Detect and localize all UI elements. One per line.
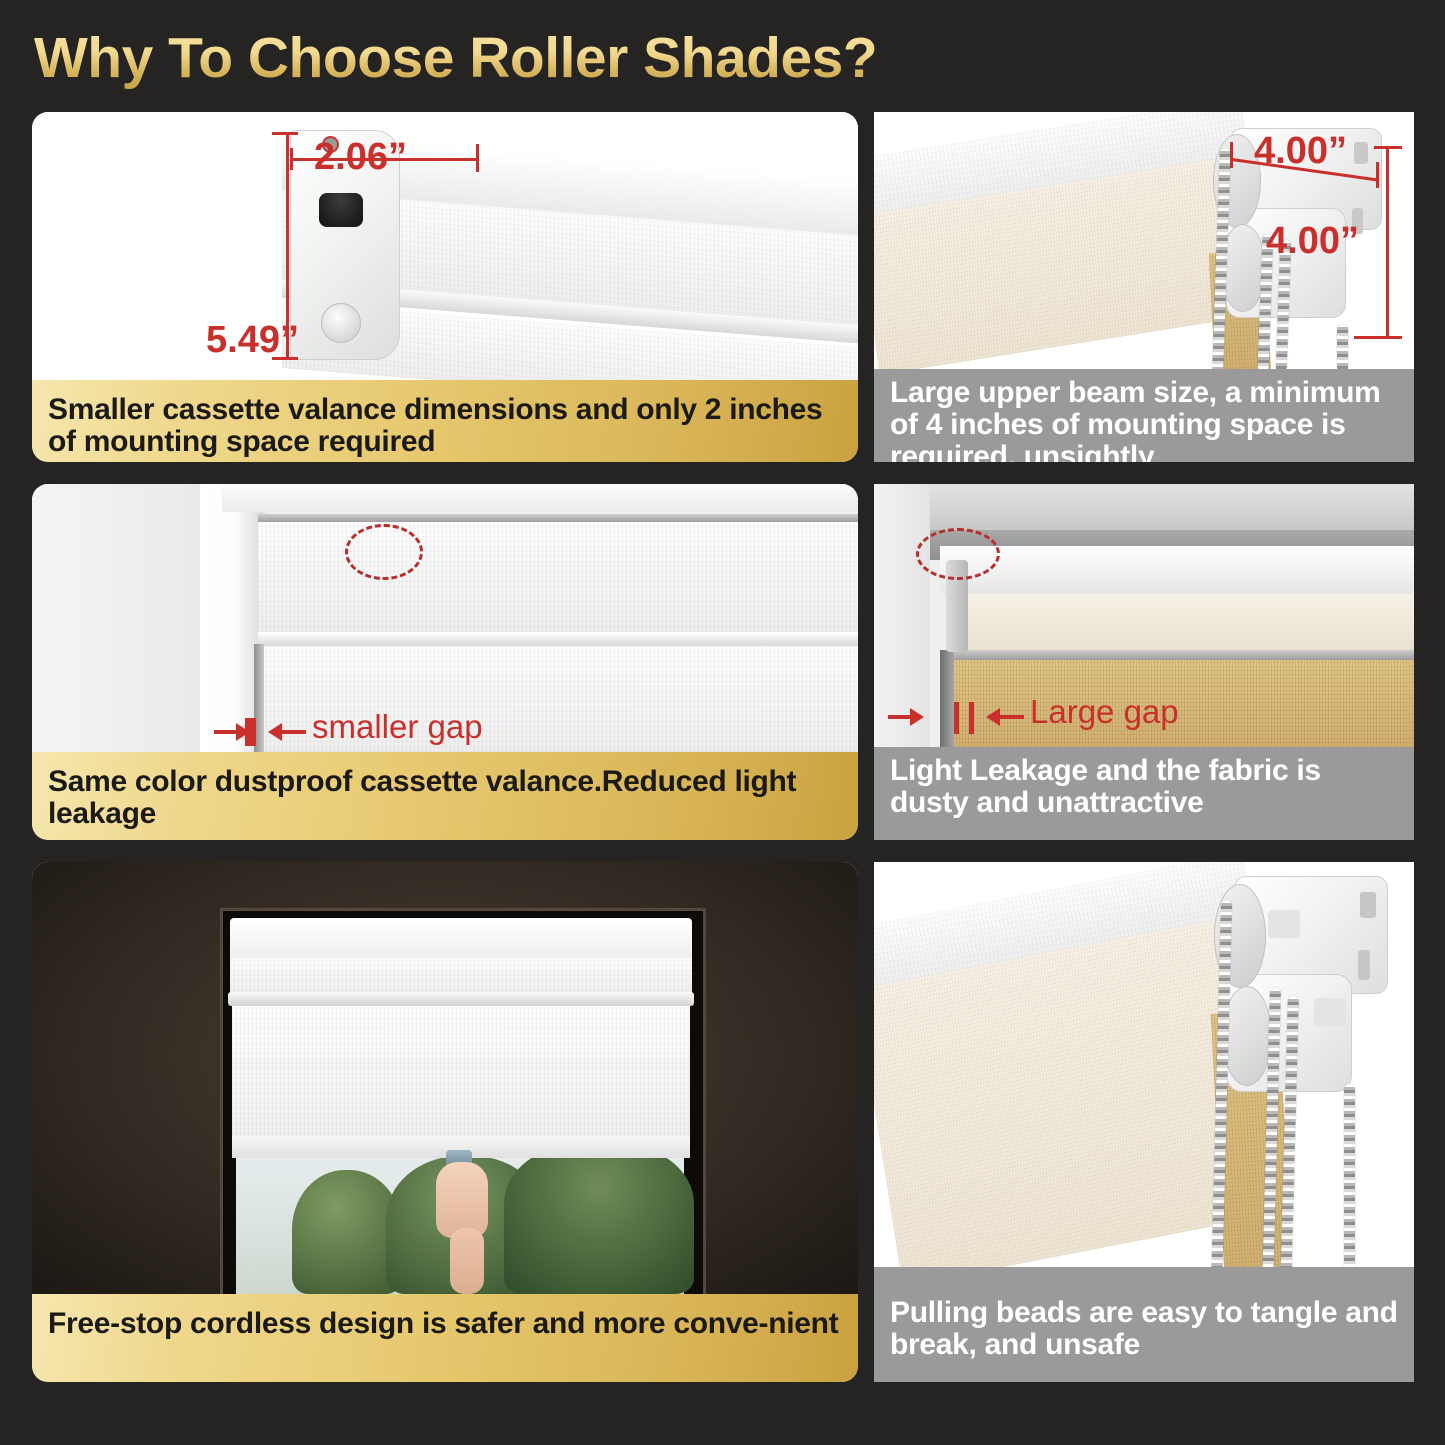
caption-cassette-dimensions: Smaller cassette valance dimensions and … <box>32 380 858 462</box>
caption-dustproof-cassette: Same color dustproof cassette valance.Re… <box>32 752 858 840</box>
shade-fabric <box>232 1006 690 1154</box>
large-gap-arrow-left-shaft <box>888 715 912 719</box>
large-upper-beam-photo: 4.00” 4.00” <box>874 112 1414 369</box>
tan-shade-fabric <box>950 660 1414 747</box>
large-gap-marker-b <box>969 702 974 734</box>
cordless-design-photo <box>32 862 858 1294</box>
wall-shadow-band <box>930 484 1414 530</box>
cassette-valance-face <box>230 958 692 996</box>
large-gap-arrow-left-head <box>910 708 924 726</box>
beam-height-tick-top <box>1374 146 1402 149</box>
beam-height-tick-bottom <box>1354 336 1402 339</box>
bracket-emblem-bottom <box>1314 998 1346 1026</box>
caption-light-leakage: Light Leakage and the fabric is dusty an… <box>874 747 1414 840</box>
bracket-roller-end-lower <box>1222 986 1272 1086</box>
smaller-gap-arrow-left-shaft <box>214 730 238 734</box>
panel-light-leakage: Large gap Light Leakage and the fabric i… <box>874 484 1414 840</box>
large-gap-arrow-right-head <box>986 708 1000 726</box>
floor-band <box>874 1267 1414 1289</box>
cassette-valance-face <box>258 522 858 632</box>
beam-height-label: 4.00” <box>1266 220 1359 263</box>
gap-highlight-circle <box>916 528 1000 580</box>
light-leakage-photo: Large gap <box>874 484 1414 747</box>
window-frame-top <box>222 484 858 512</box>
page-title: Why To Choose Roller Shades? <box>34 22 1414 94</box>
dustproof-cassette-photo: smaller gap <box>32 484 858 752</box>
shade-side-gap <box>940 650 954 747</box>
panel-pulling-beads: Pulling beads are easy to tangle and bre… <box>874 862 1414 1382</box>
pulling-beads-photo <box>874 862 1414 1289</box>
panel-dustproof-cassette: smaller gap Same color dustproof cassett… <box>32 484 858 840</box>
bracket-emblem-top <box>1268 910 1300 938</box>
endcap-slot <box>319 193 363 227</box>
smaller-gap-label: smaller gap <box>312 708 483 746</box>
cream-band <box>946 594 1414 650</box>
panel-large-upper-beam: 4.00” 4.00” Large upper beam size, a min… <box>874 112 1414 462</box>
infographic-root: Why To Choose Roller Shades? 2.06” <box>0 0 1445 1445</box>
width-dimension-tick-left <box>290 148 293 170</box>
bracket-slot-a <box>1354 142 1368 164</box>
large-gap-label: Large gap <box>1030 693 1179 731</box>
height-dimension-label: 5.49” <box>206 319 299 362</box>
caption-large-upper-beam: Large upper beam size, a minimum of 4 in… <box>874 369 1414 462</box>
width-dimension-tick-right <box>476 144 479 172</box>
smaller-gap-arrow-right-head <box>268 723 282 741</box>
cassette-bottom-lip <box>258 632 858 646</box>
valance-lip <box>228 992 694 1006</box>
bracket-slot-b <box>1358 950 1370 980</box>
bead-chain-right[interactable] <box>1337 324 1348 369</box>
smaller-gap-arrow-left-head <box>236 723 250 741</box>
white-valance <box>940 546 1414 594</box>
caption-pulling-beads: Pulling beads are easy to tangle and bre… <box>874 1289 1414 1382</box>
wall-left <box>32 484 222 752</box>
bead-chain-right[interactable] <box>1344 1084 1355 1289</box>
beam-width-label: 4.00” <box>1254 130 1347 173</box>
panel-cassette-dimensions: 2.06” 5.49” Smaller cassette valance dim… <box>32 112 858 462</box>
window-frame-left <box>200 484 262 752</box>
endcap-screw <box>321 303 361 343</box>
height-dimension-tick-top <box>272 132 298 135</box>
large-gap-arrow-right-shaft <box>1000 715 1024 719</box>
large-gap-marker-a <box>954 702 959 734</box>
beam-width-tick-left <box>1230 142 1233 168</box>
beam-width-tick-right <box>1376 162 1379 188</box>
bracket-slot-a <box>1360 892 1376 918</box>
seam-highlight-circle <box>345 524 423 580</box>
cassette-dimensions-photo: 2.06” 5.49” <box>32 112 858 380</box>
width-dimension-label: 2.06” <box>314 136 407 179</box>
cassette-seam <box>258 514 858 522</box>
hand <box>436 1162 488 1238</box>
panel-cordless-design: Free-stop cordless design is safer and m… <box>32 862 858 1382</box>
bottom-rail <box>946 650 1414 660</box>
tree-right <box>504 1144 694 1294</box>
forearm <box>450 1228 484 1294</box>
caption-cordless-design: Free-stop cordless design is safer and m… <box>32 1294 858 1382</box>
smaller-gap-arrow-right-shaft <box>282 730 306 734</box>
beam-height-dimension-line <box>1386 146 1389 338</box>
